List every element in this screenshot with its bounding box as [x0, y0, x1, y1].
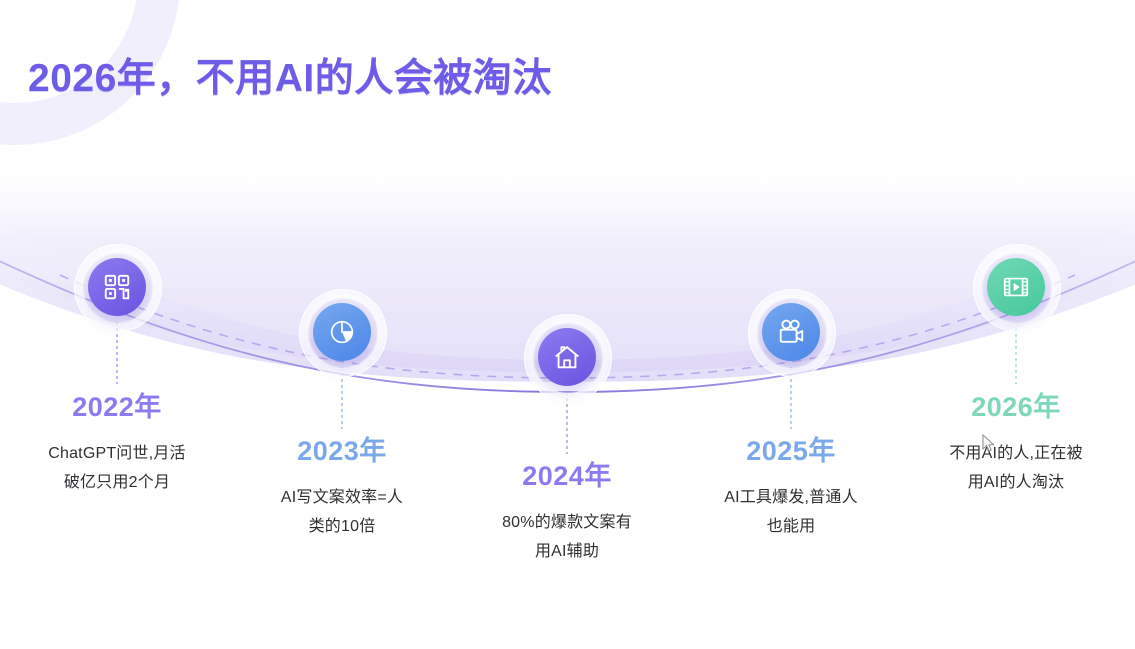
film-play-icon [1001, 272, 1031, 302]
milestone-year: 2022年 [2, 393, 232, 423]
video-camera-icon [776, 317, 806, 347]
description-line: 破亿只用2个月 [2, 468, 232, 498]
description-line: 类的10倍 [227, 512, 457, 542]
milestone-caption-2026: 2026年 不用AI的人,正在被 用AI的人淘汰 [901, 393, 1131, 498]
milestone-description: AI工具爆发,普通人 也能用 [676, 483, 906, 542]
milestone-description: 80%的爆款文案有 用AI辅助 [452, 508, 682, 567]
timeline-node-2023[interactable] [313, 303, 371, 361]
milestone-caption-2022: 2022年 ChatGPT问世,月活 破亿只用2个月 [2, 393, 232, 498]
milestone-description: 不用AI的人,正在被 用AI的人淘汰 [901, 439, 1131, 498]
timeline-node-2026[interactable] [987, 258, 1045, 316]
milestone-description: AI写文案效率=人 类的10倍 [227, 483, 457, 542]
description-line: 不用AI的人,正在被 [901, 439, 1131, 469]
milestone-caption-2023: 2023年 AI写文案效率=人 类的10倍 [227, 437, 457, 542]
description-line: AI工具爆发,普通人 [676, 483, 906, 513]
slide-canvas: 2026年，不用AI的人会被淘汰 [0, 0, 1135, 649]
timeline-node-2025[interactable] [762, 303, 820, 361]
pie-chart-icon [327, 317, 357, 347]
milestone-caption-2025: 2025年 AI工具爆发,普通人 也能用 [676, 437, 906, 542]
milestone-year: 2024年 [452, 462, 682, 492]
page-title: 2026年，不用AI的人会被淘汰 [28, 47, 552, 103]
milestone-caption-2024: 2024年 80%的爆款文案有 用AI辅助 [452, 462, 682, 567]
milestone-year: 2025年 [676, 437, 906, 467]
description-line: 用AI辅助 [452, 537, 682, 567]
qr-code-icon [102, 272, 132, 302]
home-icon [552, 342, 582, 372]
timeline-node-2022[interactable] [88, 258, 146, 316]
milestone-year: 2023年 [227, 437, 457, 467]
timeline-node-2024[interactable] [538, 328, 596, 386]
description-line: 用AI的人淘汰 [901, 468, 1131, 498]
description-line: ChatGPT问世,月活 [2, 439, 232, 469]
description-line: AI写文案效率=人 [227, 483, 457, 513]
milestone-year: 2026年 [901, 393, 1131, 423]
description-line: 也能用 [676, 512, 906, 542]
description-line: 80%的爆款文案有 [452, 508, 682, 538]
milestone-description: ChatGPT问世,月活 破亿只用2个月 [2, 439, 232, 498]
